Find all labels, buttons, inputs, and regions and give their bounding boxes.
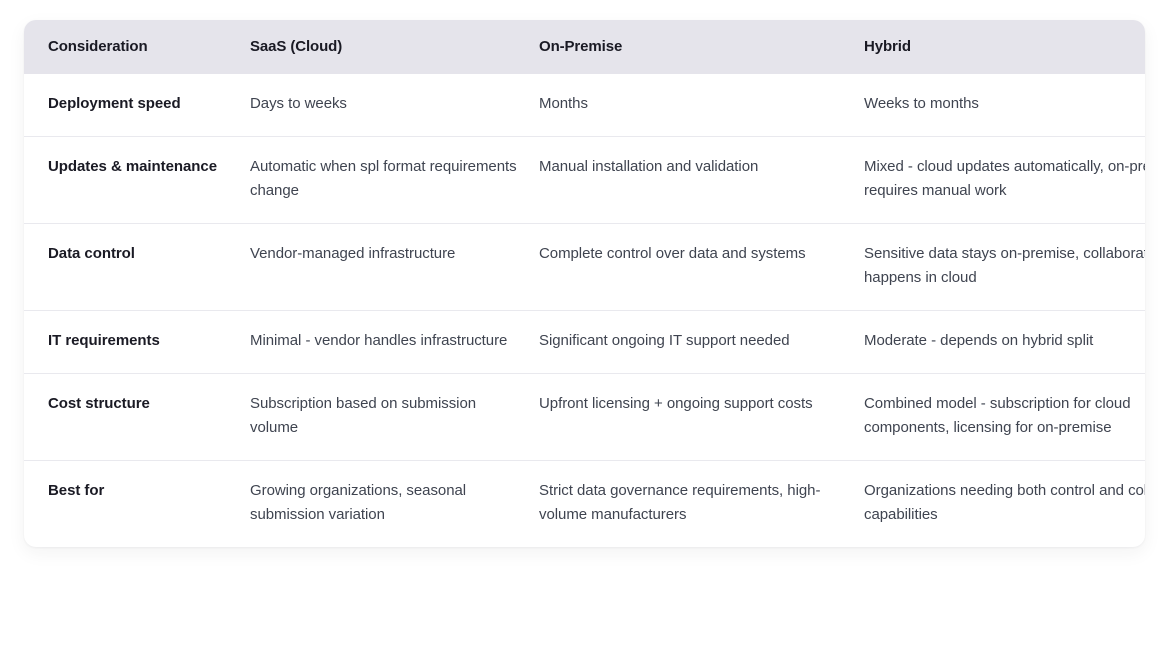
row-label-best-for: Best for (24, 461, 250, 548)
cell-saas: Vendor-managed infrastructure (250, 224, 539, 311)
row-label-data-control: Data control (24, 224, 250, 311)
page-root: Consideration SaaS (Cloud) On-Premise Hy… (0, 0, 1170, 646)
column-header-consideration: Consideration (24, 20, 250, 74)
table-row: Best for Growing organizations, seasonal… (24, 461, 1145, 548)
cell-saas: Automatic when spl format requirements c… (250, 137, 539, 224)
cell-on-premise: Significant ongoing IT support needed (539, 311, 864, 374)
row-label-deployment-speed: Deployment speed (24, 74, 250, 137)
column-header-on-premise: On-Premise (539, 20, 864, 74)
cell-on-premise: Months (539, 74, 864, 137)
comparison-table-card: Consideration SaaS (Cloud) On-Premise Hy… (24, 20, 1145, 547)
cell-saas: Minimal - vendor handles infrastructure (250, 311, 539, 374)
row-label-cost-structure: Cost structure (24, 374, 250, 461)
row-label-updates-maintenance: Updates & maintenance (24, 137, 250, 224)
column-header-hybrid: Hybrid (864, 20, 1145, 74)
cell-on-premise: Upfront licensing + ongoing support cost… (539, 374, 864, 461)
cell-saas: Days to weeks (250, 74, 539, 137)
cell-on-premise: Strict data governance requirements, hig… (539, 461, 864, 548)
cell-hybrid: Sensitive data stays on-premise, collabo… (864, 224, 1145, 311)
cell-hybrid: Weeks to months (864, 74, 1145, 137)
table-row: Deployment speed Days to weeks Months We… (24, 74, 1145, 137)
cell-on-premise: Manual installation and validation (539, 137, 864, 224)
cell-hybrid: Combined model - subscription for cloud … (864, 374, 1145, 461)
table-row: IT requirements Minimal - vendor handles… (24, 311, 1145, 374)
cell-hybrid: Moderate - depends on hybrid split (864, 311, 1145, 374)
table-row: Cost structure Subscription based on sub… (24, 374, 1145, 461)
table-header-row: Consideration SaaS (Cloud) On-Premise Hy… (24, 20, 1145, 74)
cell-saas: Subscription based on submission volume (250, 374, 539, 461)
cell-on-premise: Complete control over data and systems (539, 224, 864, 311)
deployment-comparison-table: Consideration SaaS (Cloud) On-Premise Hy… (24, 20, 1145, 547)
table-row: Updates & maintenance Automatic when spl… (24, 137, 1145, 224)
row-label-it-requirements: IT requirements (24, 311, 250, 374)
table-row: Data control Vendor-managed infrastructu… (24, 224, 1145, 311)
cell-saas: Growing organizations, seasonal submissi… (250, 461, 539, 548)
column-header-saas: SaaS (Cloud) (250, 20, 539, 74)
cell-hybrid: Mixed - cloud updates automatically, on-… (864, 137, 1145, 224)
table-body: Deployment speed Days to weeks Months We… (24, 74, 1145, 547)
cell-hybrid: Organizations needing both control and c… (864, 461, 1145, 548)
table-header: Consideration SaaS (Cloud) On-Premise Hy… (24, 20, 1145, 74)
